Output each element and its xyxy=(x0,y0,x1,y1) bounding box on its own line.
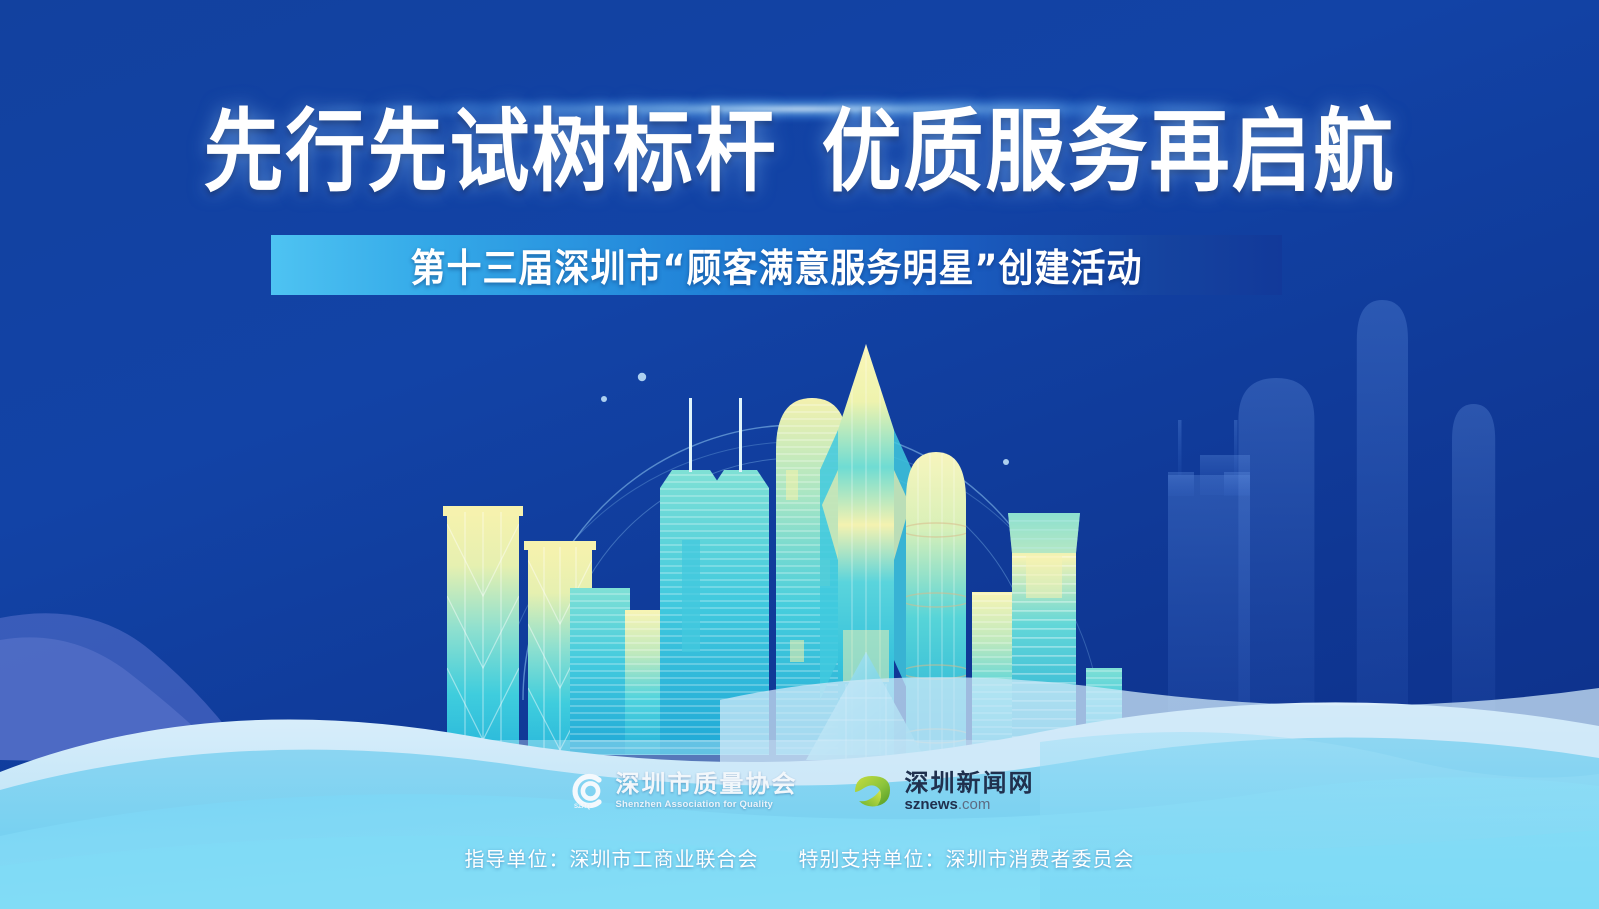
sznews-logo-text: 深圳新闻网 sznews.com xyxy=(905,771,1035,812)
support-label: 特别支持单位： xyxy=(799,847,946,871)
saq-logo-text: 深圳市质量协会 Shenzhen Association for Quality xyxy=(616,772,798,810)
logo-shenzhen-association-for-quality[interactable]: SZAQ 深圳市质量协会 Shenzhen Association for Qu… xyxy=(565,771,798,811)
promotional-banner: 先行先试树标杆优质服务再启航 第十三届深圳市“顾客满意服务明星”创建活动 SZA… xyxy=(0,0,1599,909)
sznews-name-en: sznews.com xyxy=(905,797,1035,812)
main-title: 先行先试树标杆优质服务再启航 xyxy=(0,104,1599,201)
main-title-line1: 先行先试树标杆 xyxy=(204,100,778,204)
guidance-value: 深圳市工商业联合会 xyxy=(570,847,759,871)
main-title-line2: 优质服务再启航 xyxy=(822,100,1396,204)
subtitle-bar: 第十三届深圳市“顾客满意服务明星”创建活动 xyxy=(271,235,1282,295)
circle-c-mark-icon: SZAQ xyxy=(565,771,607,811)
green-leaf-mark-icon xyxy=(850,770,896,812)
svg-text:SZAQ: SZAQ xyxy=(574,804,591,810)
credits-line: 指导单位：深圳市工商业联合会特别支持单位：深圳市消费者委员会 xyxy=(0,843,1599,872)
subtitle-text: 第十三届深圳市“顾客满意服务明星”创建活动 xyxy=(410,237,1142,293)
sznews-domain-suffix: .com xyxy=(958,796,991,813)
sznews-name-cn: 深圳新闻网 xyxy=(905,771,1035,795)
title-block: 先行先试树标杆优质服务再启航 xyxy=(0,104,1599,190)
saq-name-cn: 深圳市质量协会 xyxy=(616,772,798,796)
sznews-domain: sznews xyxy=(905,796,958,813)
logo-sznews[interactable]: 深圳新闻网 sznews.com xyxy=(850,770,1035,812)
guidance-label: 指导单位： xyxy=(465,847,570,871)
sponsor-logo-row: SZAQ 深圳市质量协会 Shenzhen Association for Qu… xyxy=(0,770,1599,812)
saq-name-en: Shenzhen Association for Quality xyxy=(616,800,798,810)
support-value: 深圳市消费者委员会 xyxy=(946,847,1135,871)
